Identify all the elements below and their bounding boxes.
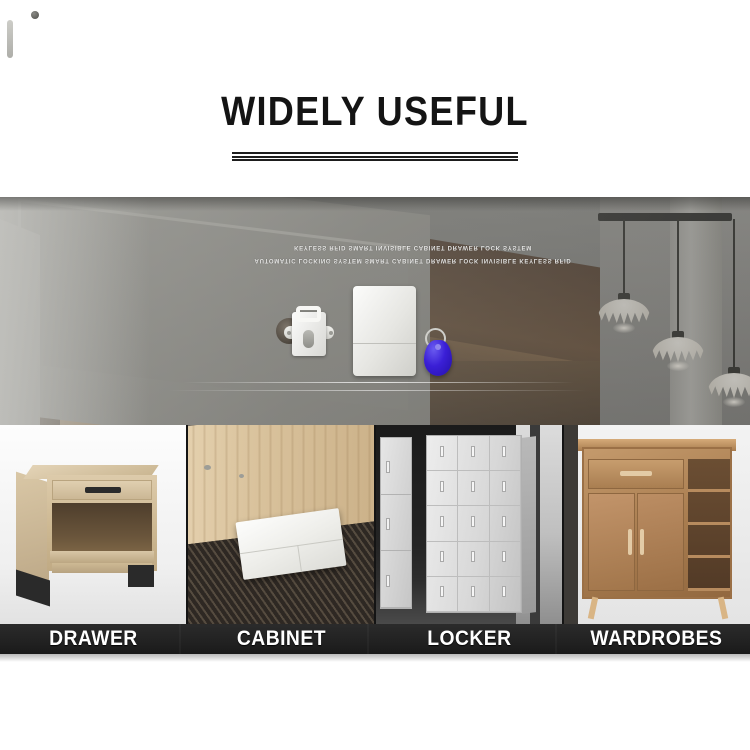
product-marketing-page: WIDELY USEFUL AU bbox=[0, 0, 750, 750]
locker-bank-unit bbox=[426, 435, 522, 613]
wardrobe-drawer-handle-icon bbox=[620, 471, 652, 476]
product-strip bbox=[0, 425, 750, 624]
reader-led-icon bbox=[31, 11, 39, 19]
product-cell-drawer[interactable] bbox=[0, 425, 188, 624]
product-label-bar: DRAWER CABINET LOCKER WARDROBES bbox=[0, 624, 750, 654]
product-cell-cabinet[interactable] bbox=[188, 425, 376, 624]
label-bar-shadow bbox=[0, 654, 750, 662]
hero-overlay-copy: AUTOMATIC LOCKING SYSTEM SMART CABINET D… bbox=[198, 240, 628, 266]
product-label-drawer: DRAWER bbox=[8, 624, 181, 654]
lock-screw-hole-icon bbox=[287, 331, 291, 335]
header: WIDELY USEFUL bbox=[0, 88, 750, 161]
title-divider bbox=[232, 152, 518, 161]
tall-locker-unit bbox=[380, 437, 412, 609]
cabinet-lock-latch-icon bbox=[296, 306, 321, 322]
page-title: WIDELY USEFUL bbox=[45, 88, 705, 134]
product-cell-locker[interactable] bbox=[376, 425, 564, 624]
hero-copy-line-1: AUTOMATIC LOCKING SYSTEM SMART CABINET D… bbox=[198, 253, 628, 266]
lock-screw-icon bbox=[204, 465, 211, 470]
drawer-handle-icon bbox=[85, 487, 121, 493]
product-label-cabinet: CABINET bbox=[195, 624, 368, 654]
product-cell-wardrobes[interactable] bbox=[564, 425, 750, 624]
glass-overlay-edge bbox=[0, 197, 150, 425]
product-label-locker: LOCKER bbox=[383, 624, 556, 654]
keyfob-hole-icon bbox=[435, 344, 441, 350]
hero-highlight-line bbox=[168, 390, 586, 391]
hero-top-shadow bbox=[0, 197, 750, 211]
lock-screw-icon bbox=[239, 474, 244, 478]
cabinet-lock-slot-icon bbox=[303, 330, 314, 348]
wardrobe-door-handle-icon bbox=[640, 529, 644, 555]
rfid-reader-module bbox=[353, 286, 416, 376]
lock-screw-hole-icon bbox=[329, 331, 333, 335]
wardrobe-door-handle-icon bbox=[628, 529, 632, 555]
hero-highlight-line bbox=[182, 382, 574, 383]
hero-copy-line-2: KEYLESS RFID SMART INVISIBLE CABINET DRA… bbox=[198, 240, 628, 253]
product-label-wardrobes: WARDROBES bbox=[571, 624, 743, 654]
reader-antenna-strip bbox=[7, 20, 13, 58]
wardrobe-open-shelves bbox=[688, 459, 730, 591]
